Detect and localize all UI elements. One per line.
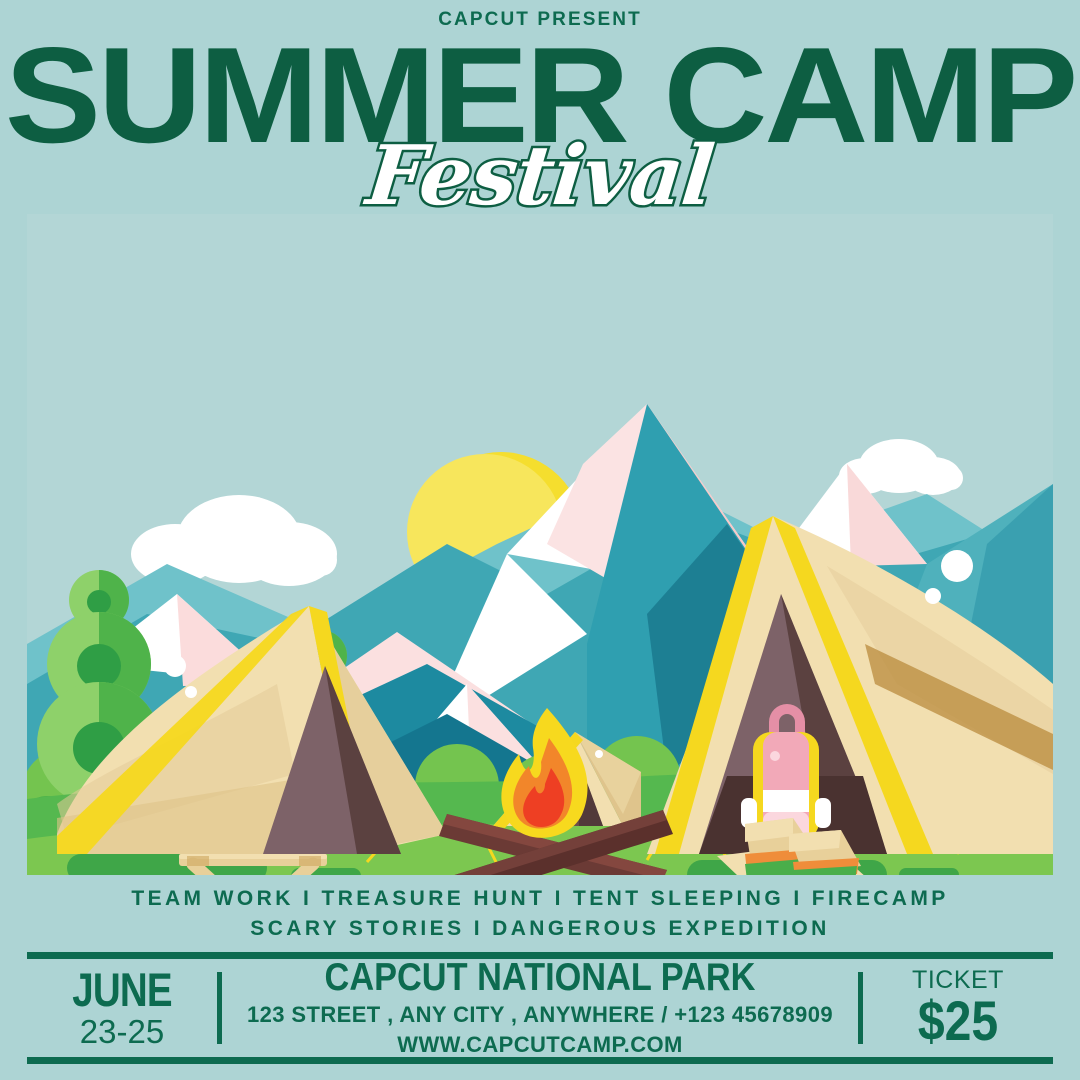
event-date: JUNE 23-25 (27, 966, 217, 1051)
activities-line-1: TEAM WORK I TREASURE HUNT I TENT SLEEPIN… (0, 884, 1080, 914)
event-month: JUNE (44, 966, 200, 1013)
venue-name: CAPCUT NATIONAL PARK (269, 956, 811, 1000)
footer-bar: JUNE 23-25 CAPCUT NATIONAL PARK 123 STRE… (27, 959, 1053, 1057)
venue-address: 123 STREET , ANY CITY , ANYWHERE / +123 … (232, 1000, 848, 1030)
subtitle-script: Festival (0, 128, 1080, 224)
activities-line-2: SCARY STORIES I DANGEROUS EXPEDITION (0, 914, 1080, 944)
event-days: 23-25 (27, 1013, 217, 1051)
camp-illustration (27, 214, 1053, 875)
poster-root: CAPCUT PRESENT SUMMER CAMP Festival (0, 0, 1080, 1080)
ticket-price: $25 (876, 993, 1039, 1049)
ticket-block: TICKET $25 (863, 967, 1053, 1049)
venue-website[interactable]: WWW.CAPCUTCAMP.COM (232, 1030, 848, 1060)
venue-block: CAPCUT NATIONAL PARK 123 STREET , ANY CI… (222, 956, 858, 1059)
activities-list: TEAM WORK I TREASURE HUNT I TENT SLEEPIN… (0, 884, 1080, 944)
divider-bottom (27, 1057, 1053, 1064)
